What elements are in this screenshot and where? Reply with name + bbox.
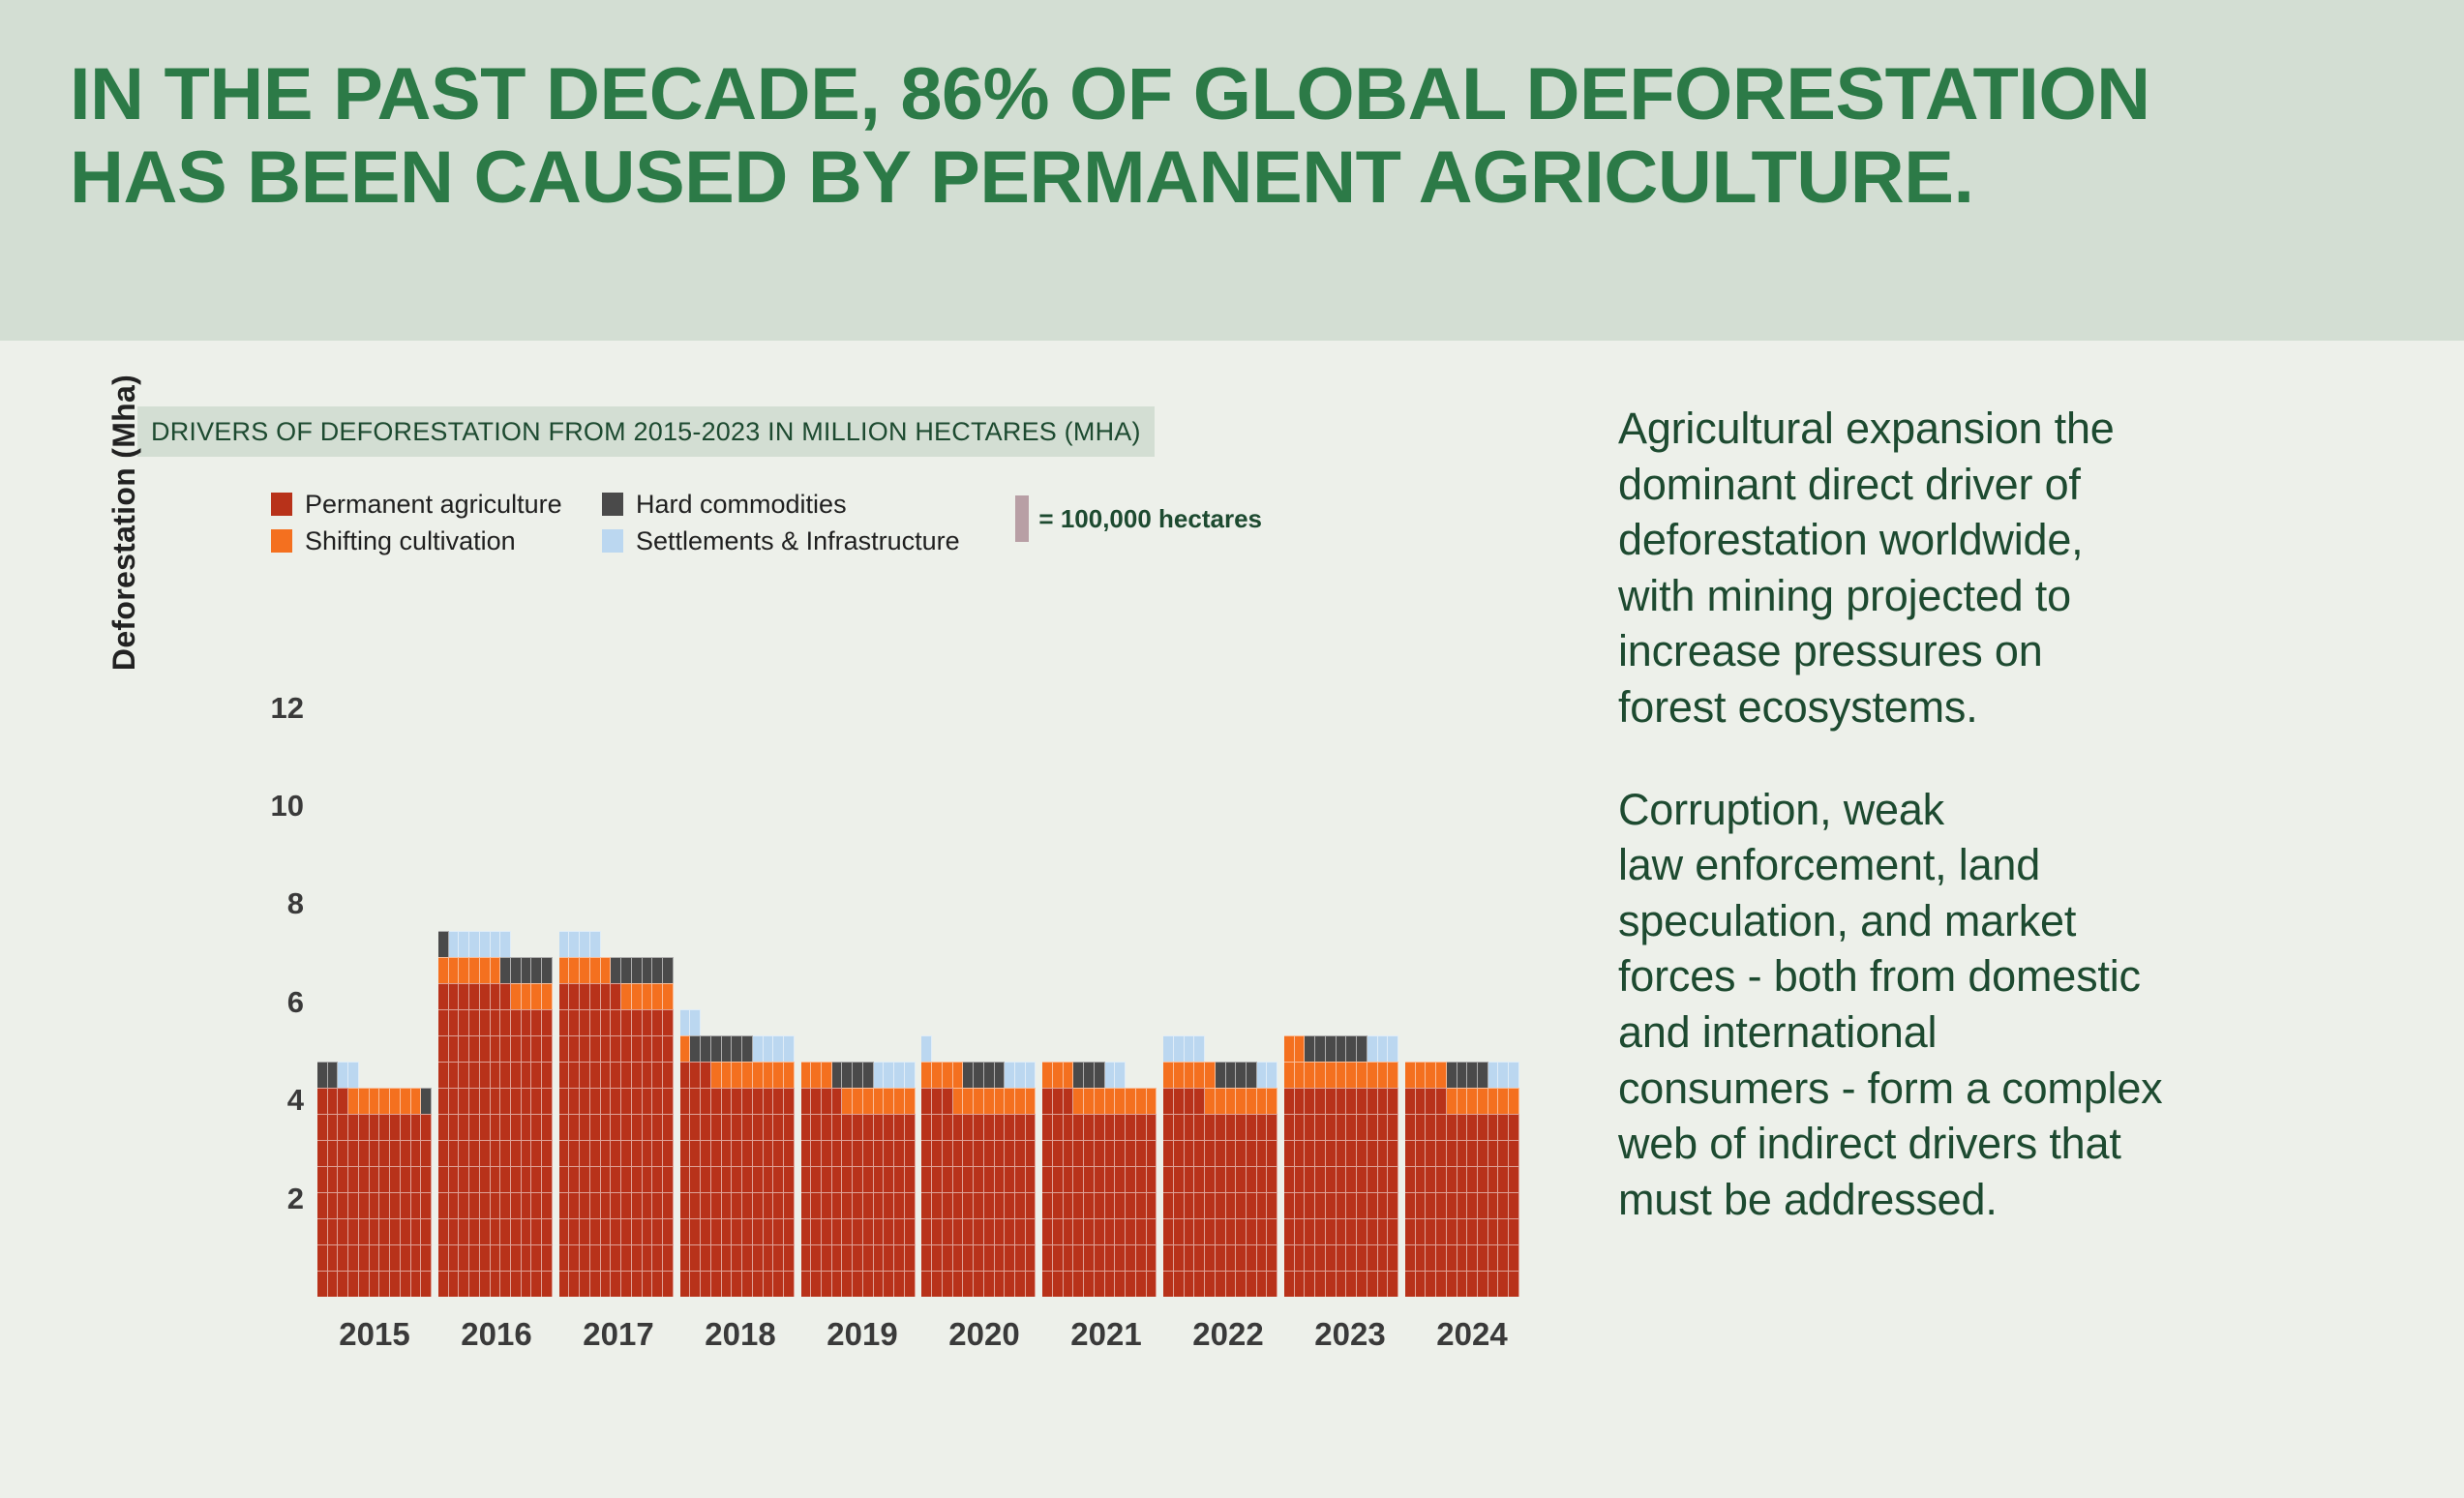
waffle-cell (328, 1166, 339, 1192)
waffle-cell (438, 1114, 449, 1140)
waffle-cell (1498, 1271, 1509, 1297)
waffle-cell (1509, 1114, 1519, 1140)
waffle-cell (480, 1009, 491, 1035)
waffle-cell (722, 1192, 733, 1218)
waffle-cell (359, 1218, 370, 1244)
waffle-cell (1305, 1062, 1315, 1088)
waffle-cell (663, 1035, 674, 1062)
waffle-cell (643, 1114, 653, 1140)
waffle-cell (963, 1271, 974, 1297)
waffle-cell (1247, 1114, 1257, 1140)
waffle-cell (542, 1088, 553, 1114)
waffle-cell (884, 1088, 894, 1114)
waffle-cell (753, 1114, 764, 1140)
waffle-cell (580, 1062, 590, 1088)
waffle-cell (370, 1062, 380, 1088)
waffle-row (1284, 1114, 1398, 1140)
waffle-cell (317, 1062, 328, 1088)
waffle-cell (1378, 1088, 1389, 1114)
waffle-cell (1084, 1114, 1095, 1140)
bar-2015[interactable] (317, 590, 432, 1297)
waffle-cell (1174, 1192, 1185, 1218)
waffle-cell (580, 1009, 590, 1035)
waffle-row (801, 1166, 916, 1192)
waffle-cell (963, 1140, 974, 1166)
waffle-cell (438, 1088, 449, 1114)
waffle-cell (601, 957, 612, 983)
waffle-cell (522, 1035, 532, 1062)
waffle-cell (1073, 1062, 1084, 1088)
waffle-cell (411, 1192, 422, 1218)
waffle-cell (953, 1088, 964, 1114)
waffle-cell (1498, 1244, 1509, 1271)
waffle-cell (1174, 1244, 1185, 1271)
waffle-cell (943, 1088, 953, 1114)
waffle-cell (1488, 1140, 1499, 1166)
waffle-cell (559, 1166, 570, 1192)
waffle-cell (621, 1244, 632, 1271)
waffle-cell (359, 1140, 370, 1166)
waffle-cell (1326, 1166, 1337, 1192)
waffle-cell (1315, 1244, 1326, 1271)
bar-2016[interactable] (438, 590, 553, 1297)
waffle-cell (317, 1271, 328, 1297)
waffle-cell (1064, 1166, 1074, 1192)
waffle-cell (1247, 1244, 1257, 1271)
waffle-row (1163, 1140, 1277, 1166)
waffle-cell (469, 1166, 480, 1192)
waffle-row (801, 1218, 916, 1244)
waffle-row (317, 1244, 432, 1271)
waffle-cell (1447, 1244, 1457, 1271)
waffle-cell (1267, 1088, 1277, 1114)
bar-2017[interactable] (559, 590, 674, 1297)
waffle-cell (590, 1192, 601, 1218)
waffle-cell (764, 1244, 774, 1271)
waffle-cell (822, 1088, 832, 1114)
waffle-cell (580, 931, 590, 957)
waffle-cell (1185, 1192, 1195, 1218)
waffle-cell (1205, 1244, 1216, 1271)
waffle-cell (690, 1035, 701, 1062)
waffle-cell (663, 931, 674, 957)
waffle-cell (1185, 1088, 1195, 1114)
bar-2022[interactable] (1163, 590, 1277, 1297)
waffle-cell (1337, 1088, 1347, 1114)
x-axis-labels: 2015201620172018201920202021202220232024 (317, 1316, 1529, 1353)
waffle-cell (500, 1192, 511, 1218)
waffle-cell (784, 1009, 795, 1035)
waffle-cell (1326, 1271, 1337, 1297)
waffle-cell (1498, 1140, 1509, 1166)
waffle-cell (984, 1244, 995, 1271)
waffle-cell (469, 1035, 480, 1062)
waffle-cell (753, 1009, 764, 1035)
waffle-cell (784, 1244, 795, 1271)
waffle-cell (1247, 1218, 1257, 1244)
waffle-cell (1026, 1192, 1037, 1218)
waffle-cell (943, 1114, 953, 1140)
waffle-cell (632, 1192, 643, 1218)
waffle-cell (984, 1218, 995, 1244)
waffle-cell (611, 957, 621, 983)
chart-title-band: DRIVERS OF DEFORESTATION FROM 2015-2023 … (137, 406, 1155, 457)
waffle-cell (491, 1140, 501, 1166)
waffle-row (680, 1062, 795, 1088)
waffle-cell (932, 1114, 943, 1140)
waffle-cell (1257, 1166, 1268, 1192)
waffle-cell (632, 1140, 643, 1166)
waffle-cell (921, 1271, 932, 1297)
waffle-cell (643, 1218, 653, 1244)
waffle-cell (569, 983, 580, 1009)
waffle-cell (680, 1114, 691, 1140)
waffle-cell (511, 1114, 522, 1140)
waffle-cell (773, 1088, 784, 1114)
waffle-cell (663, 1271, 674, 1297)
waffle-cell (480, 1166, 491, 1192)
waffle-cell (1015, 1088, 1026, 1114)
waffle-row (1284, 1192, 1398, 1218)
waffle-cell (1447, 1114, 1457, 1140)
waffle-cell (974, 1271, 984, 1297)
waffle-cell (1042, 1192, 1053, 1218)
legend-item-shifting-cultivation[interactable]: Shifting cultivation (271, 523, 581, 559)
waffle-cell (1436, 1271, 1447, 1297)
waffle-cell (1073, 1088, 1084, 1114)
waffle-cell (663, 1062, 674, 1088)
waffle-cell (500, 983, 511, 1009)
waffle-cell (1053, 1271, 1064, 1297)
x-label-2018: 2018 (683, 1316, 797, 1353)
waffle-cell (1509, 1244, 1519, 1271)
waffle-cell (1346, 1140, 1357, 1166)
waffle-cell (359, 1271, 370, 1297)
waffle-row (317, 1114, 432, 1140)
waffle-cell (1064, 1271, 1074, 1297)
waffle-cell (500, 1140, 511, 1166)
waffle-cell (1126, 1140, 1136, 1166)
waffle-cell (601, 1062, 612, 1088)
waffle-cell (438, 1140, 449, 1166)
waffle-cell (1236, 1062, 1247, 1088)
waffle-cell (480, 957, 491, 983)
y-tick-2: 2 (287, 1182, 304, 1216)
waffle-cell (511, 1035, 522, 1062)
waffle-cell (491, 957, 501, 983)
y-tick-8: 8 (287, 886, 304, 921)
waffle-cell (1367, 1035, 1378, 1062)
waffle-cell (511, 1140, 522, 1166)
waffle-cell (542, 1218, 553, 1244)
waffle-cell (621, 931, 632, 957)
waffle-cell (580, 1140, 590, 1166)
waffle-cell (632, 1218, 643, 1244)
waffle-cell (491, 1114, 501, 1140)
waffle-cell (1226, 1088, 1237, 1114)
waffle-cell (680, 1140, 691, 1166)
waffle-cell (491, 931, 501, 957)
waffle-cell (884, 1140, 894, 1166)
legend-swatch-shifting-cultivation (271, 529, 292, 553)
waffle-cell (701, 1218, 711, 1244)
waffle-cell (1115, 1088, 1126, 1114)
waffle-row (438, 1166, 553, 1192)
waffle-cell (459, 1166, 469, 1192)
waffle-cell (500, 931, 511, 957)
waffle-cell (1367, 1192, 1378, 1218)
waffle-cell (995, 1035, 1006, 1062)
waffle-cell (590, 1166, 601, 1192)
bar-2019[interactable] (801, 590, 916, 1297)
waffle-cell (1163, 1035, 1174, 1062)
waffle-cell (1498, 1166, 1509, 1192)
waffle-cell (742, 1271, 753, 1297)
waffle-cell (1295, 1218, 1306, 1244)
waffle-cell (1026, 1244, 1037, 1271)
waffle-cell (863, 1244, 874, 1271)
waffle-cell (894, 1114, 905, 1140)
legend-item-settlements-infrastructure[interactable]: Settlements & Infrastructure (602, 523, 960, 559)
waffle-cell (449, 1244, 460, 1271)
waffle-cell (652, 1088, 663, 1114)
waffle-cell (753, 1140, 764, 1166)
waffle-cell (1084, 1244, 1095, 1271)
waffle-cell (863, 1140, 874, 1166)
waffle-cell (569, 1009, 580, 1035)
waffle-2020 (921, 1035, 1036, 1297)
waffle-cell (932, 1244, 943, 1271)
waffle-cell (894, 1244, 905, 1271)
waffle-cell (1267, 1140, 1277, 1166)
waffle-cell (632, 1271, 643, 1297)
waffle-cell (1236, 1114, 1247, 1140)
waffle-cell (1357, 1035, 1367, 1062)
waffle-cell (459, 1114, 469, 1140)
waffle-cell (1064, 1192, 1074, 1218)
waffle-cell (1315, 1035, 1326, 1062)
bar-2021[interactable] (1042, 590, 1157, 1297)
waffle-cell (469, 957, 480, 983)
waffle-row (559, 1009, 674, 1035)
waffle-cell (1084, 1062, 1095, 1088)
waffle-cell (611, 1140, 621, 1166)
waffle-cell (390, 1140, 401, 1166)
waffle-cell (601, 1035, 612, 1062)
waffle-cell (1073, 1271, 1084, 1297)
waffle-cell (732, 1035, 742, 1062)
waffle-cell (1226, 1244, 1237, 1271)
x-label-2016: 2016 (439, 1316, 554, 1353)
x-label-2023: 2023 (1293, 1316, 1407, 1353)
waffle-cell (500, 1035, 511, 1062)
chart-panel: DRIVERS OF DEFORESTATION FROM 2015-2023 … (126, 406, 1529, 1432)
waffle-cell (1326, 1035, 1337, 1062)
waffle-cell (1005, 1244, 1015, 1271)
bar-2018[interactable] (680, 590, 795, 1297)
waffle-cell (722, 1062, 733, 1088)
waffle-cell (491, 1192, 501, 1218)
waffle-cell (621, 1114, 632, 1140)
waffle-cell (1426, 1244, 1436, 1271)
waffle-cell (1126, 1244, 1136, 1271)
waffle-cell (742, 1140, 753, 1166)
waffle-cell (1337, 1218, 1347, 1244)
waffle-cell (1105, 1218, 1116, 1244)
waffle-cell (590, 1114, 601, 1140)
waffle-cell (1267, 1271, 1277, 1297)
bar-2020[interactable] (921, 590, 1036, 1297)
waffle-row (1284, 1062, 1398, 1088)
waffle-cell (1337, 1114, 1347, 1140)
waffle-cell (348, 1244, 359, 1271)
legend-item-hard-commodities[interactable]: Hard commodities (602, 486, 960, 523)
waffle-cell (559, 1218, 570, 1244)
waffle-cell (722, 1244, 733, 1271)
waffle-cell (690, 1192, 701, 1218)
waffle-cell (1326, 1218, 1337, 1244)
waffle-cell (643, 1035, 653, 1062)
waffle-cell (580, 957, 590, 983)
waffle-cell (773, 1035, 784, 1062)
waffle-cell (921, 1140, 932, 1166)
plot-area: 24681012 (242, 590, 1519, 1297)
waffle-cell (1026, 1035, 1037, 1062)
waffle-cell (1267, 1244, 1277, 1271)
waffle-cell (680, 1166, 691, 1192)
waffle-row (438, 1271, 553, 1297)
waffle-cell (711, 1166, 722, 1192)
waffle-cell (1185, 1271, 1195, 1297)
waffle-cell (1005, 1088, 1015, 1114)
waffle-cell (1357, 1218, 1367, 1244)
waffle-row (1163, 1166, 1277, 1192)
waffle-row (1284, 1166, 1398, 1192)
waffle-cell (1357, 1166, 1367, 1192)
bar-2023[interactable] (1284, 590, 1398, 1297)
waffle-cell (421, 1271, 432, 1297)
waffle-cell (1357, 1244, 1367, 1271)
waffle-cell (601, 1114, 612, 1140)
waffle-cell (1226, 1218, 1237, 1244)
waffle-cell (449, 1009, 460, 1035)
waffle-cell (632, 1114, 643, 1140)
waffle-cell (338, 1244, 348, 1271)
waffle-cell (1346, 1062, 1357, 1088)
waffle-cell (722, 1218, 733, 1244)
waffle-cell (1295, 1166, 1306, 1192)
waffle-cell (590, 1140, 601, 1166)
waffle-cell (1205, 1088, 1216, 1114)
waffle-cell (359, 1244, 370, 1271)
waffle-cell (411, 1114, 422, 1140)
waffle-cell (1147, 1271, 1157, 1297)
waffle-cell (390, 1271, 401, 1297)
waffle-cell (1216, 1271, 1226, 1297)
waffle-cell (1163, 1114, 1174, 1140)
waffle-cell (822, 1166, 832, 1192)
waffle-cell (801, 1062, 812, 1088)
waffle-cell (338, 1114, 348, 1140)
waffle-cell (652, 1271, 663, 1297)
waffle-row (801, 1192, 916, 1218)
waffle-row (1042, 1271, 1157, 1297)
waffle-cell (874, 1062, 885, 1088)
waffle-cell (469, 1244, 480, 1271)
waffle-cell (652, 1166, 663, 1192)
waffle-cell (601, 1009, 612, 1035)
waffle-row (1405, 1166, 1519, 1192)
waffle-cell (390, 1218, 401, 1244)
waffle-cell (522, 1140, 532, 1166)
waffle-cell (1015, 1192, 1026, 1218)
waffle-cell (359, 1192, 370, 1218)
waffle-cell (690, 1062, 701, 1088)
waffle-cell (874, 1244, 885, 1271)
waffle-cell (921, 1166, 932, 1192)
waffle-cell (1416, 1218, 1427, 1244)
waffle-cell (1026, 1088, 1037, 1114)
waffle-row (680, 1244, 795, 1271)
waffle-cell (1326, 1244, 1337, 1271)
waffle-cell (379, 1114, 390, 1140)
waffle-cell (438, 1009, 449, 1035)
legend-item-permanent-agriculture[interactable]: Permanent agriculture (271, 486, 581, 523)
waffle-cell (652, 1009, 663, 1035)
waffle-cell (690, 1218, 701, 1244)
waffle-cell (1315, 1271, 1326, 1297)
legend-label-permanent-agriculture: Permanent agriculture (305, 490, 562, 520)
waffle-cell (680, 1035, 691, 1062)
waffle-cell (348, 1192, 359, 1218)
waffle-cell (1337, 1166, 1347, 1192)
waffle-cell (1084, 1271, 1095, 1297)
waffle-cell (1284, 1062, 1295, 1088)
waffle-cell (1105, 1088, 1116, 1114)
waffle-cell (522, 1192, 532, 1218)
waffle-cell (921, 1035, 932, 1062)
waffle-cell (1295, 1192, 1306, 1218)
waffle-cell (742, 1218, 753, 1244)
waffle-cell (1205, 1271, 1216, 1297)
waffle-cell (1467, 1088, 1478, 1114)
waffle-cell (1488, 1192, 1499, 1218)
waffle-cell (643, 1192, 653, 1218)
waffle-cell (1405, 1166, 1416, 1192)
y-tick-4: 4 (287, 1083, 304, 1118)
waffle-cell (753, 1218, 764, 1244)
waffle-cell (784, 1271, 795, 1297)
waffle-cell (1284, 1192, 1295, 1218)
waffle-row (559, 1062, 674, 1088)
waffle-cell (722, 1140, 733, 1166)
waffle-2019 (801, 1062, 916, 1297)
waffle-cell (742, 1088, 753, 1114)
waffle-row (1405, 1192, 1519, 1218)
waffle-cell (742, 1009, 753, 1035)
waffle-cell (1426, 1192, 1436, 1218)
waffle-cell (853, 1244, 863, 1271)
waffle-row (680, 1218, 795, 1244)
bar-2024[interactable] (1405, 590, 1519, 1297)
waffle-cell (1457, 1062, 1468, 1088)
waffle-cell (652, 1140, 663, 1166)
waffle-cell (711, 1218, 722, 1244)
waffle-cell (1053, 1244, 1064, 1271)
waffle-cell (801, 1244, 812, 1271)
waffle-cell (884, 1192, 894, 1218)
waffle-cell (663, 957, 674, 983)
